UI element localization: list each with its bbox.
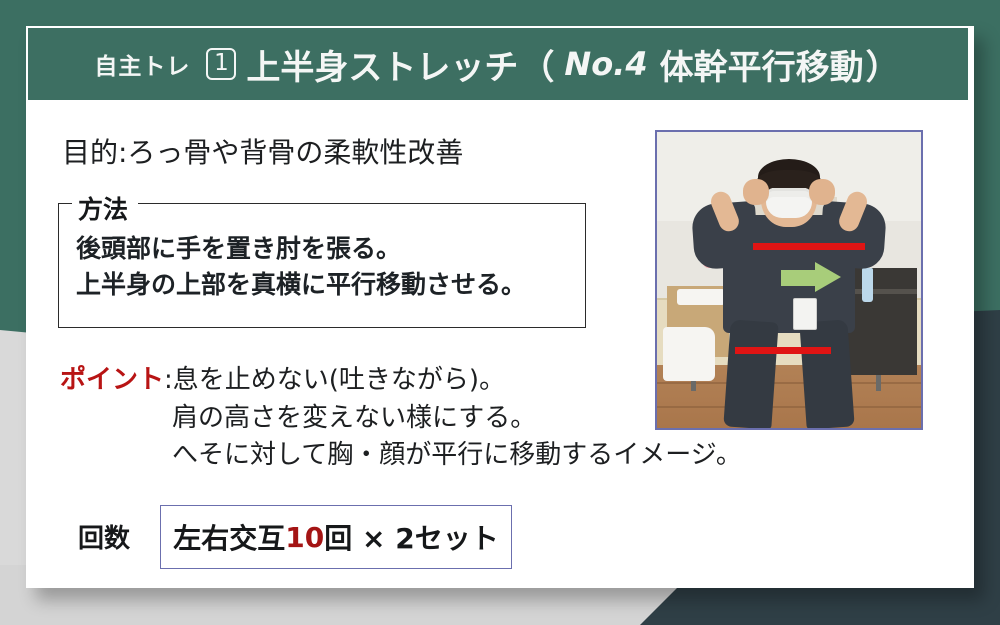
arrow-shaft (781, 270, 817, 286)
photo-person-hand-right (809, 179, 835, 205)
header-exercise-number: No.4 (556, 45, 651, 83)
photo-direction-arrow-icon (781, 262, 839, 292)
points-label: ポイント (60, 362, 164, 400)
photo-person-face-mask (766, 188, 812, 218)
photo-floor-line (657, 406, 921, 408)
point-row: へそに対して胸・顔が平行に移動するイメージ。 (60, 437, 742, 475)
reps-label: 回数 (78, 518, 130, 555)
method-line: 後頭部に手を置き肘を張る。 (76, 231, 581, 267)
photo-person-id-badge (793, 298, 817, 330)
header-main-title: 上半身ストレッチ (246, 40, 518, 89)
point-text: 息を止めない(吐きながら)。 (173, 362, 505, 400)
reps-suffix: 回 × 2セット (324, 517, 498, 557)
method-legend: 方法 (72, 190, 138, 226)
photo-person-hand-left (743, 179, 769, 205)
exercise-photo (655, 130, 923, 430)
reps-box: 左右交互 10 回 × 2セット (160, 505, 512, 569)
photo-guide-line-upper (753, 243, 865, 250)
header-paren-open: （ (518, 40, 556, 89)
point-row: 肩の高さを変えない様にする。 (60, 400, 742, 438)
photo-person-leg-right (799, 320, 854, 430)
purpose-text: 目的:ろっ骨や背骨の柔軟性改善 (62, 131, 463, 171)
header-small-label: 自主トレ (94, 47, 190, 81)
photo-white-cloth (663, 327, 715, 380)
header-paren-close: ） (864, 40, 902, 89)
header-sub-title: 体幹平行移動 (652, 40, 864, 89)
points-colon: : (164, 362, 173, 400)
slide-header: 自主トレ 1 上半身ストレッチ （ No.4 体幹平行移動 ） (26, 26, 970, 102)
method-line: 上半身の上部を真横に平行移動させる。 (76, 267, 581, 303)
point-text: 肩の高さを変えない様にする。 (172, 400, 536, 438)
method-lines: 後頭部に手を置き肘を張る。 上半身の上部を真横に平行移動させる。 (76, 231, 581, 302)
photo-guide-line-lower (735, 347, 831, 354)
photo-white-cloth (677, 289, 725, 305)
arrow-head (815, 262, 841, 292)
point-row: ポイント : 息を止めない(吐きながら)。 (60, 362, 742, 400)
point-text: へそに対して胸・顔が平行に移動するイメージ。 (172, 437, 742, 475)
slide-root: 自主トレ 1 上半身ストレッチ （ No.4 体幹平行移動 ） 目的:ろっ骨や背… (0, 0, 1000, 625)
reps-count: 10 (285, 521, 324, 554)
reps-prefix: 左右交互 (173, 517, 285, 557)
points-section: ポイント : 息を止めない(吐きながら)。 肩の高さを変えない様にする。 へそに… (60, 362, 742, 475)
photo-water-bottle (862, 268, 873, 302)
header-step-number: 1 (206, 48, 236, 80)
photo-floor-line (657, 382, 921, 384)
photo-person-leg-left (723, 320, 778, 430)
